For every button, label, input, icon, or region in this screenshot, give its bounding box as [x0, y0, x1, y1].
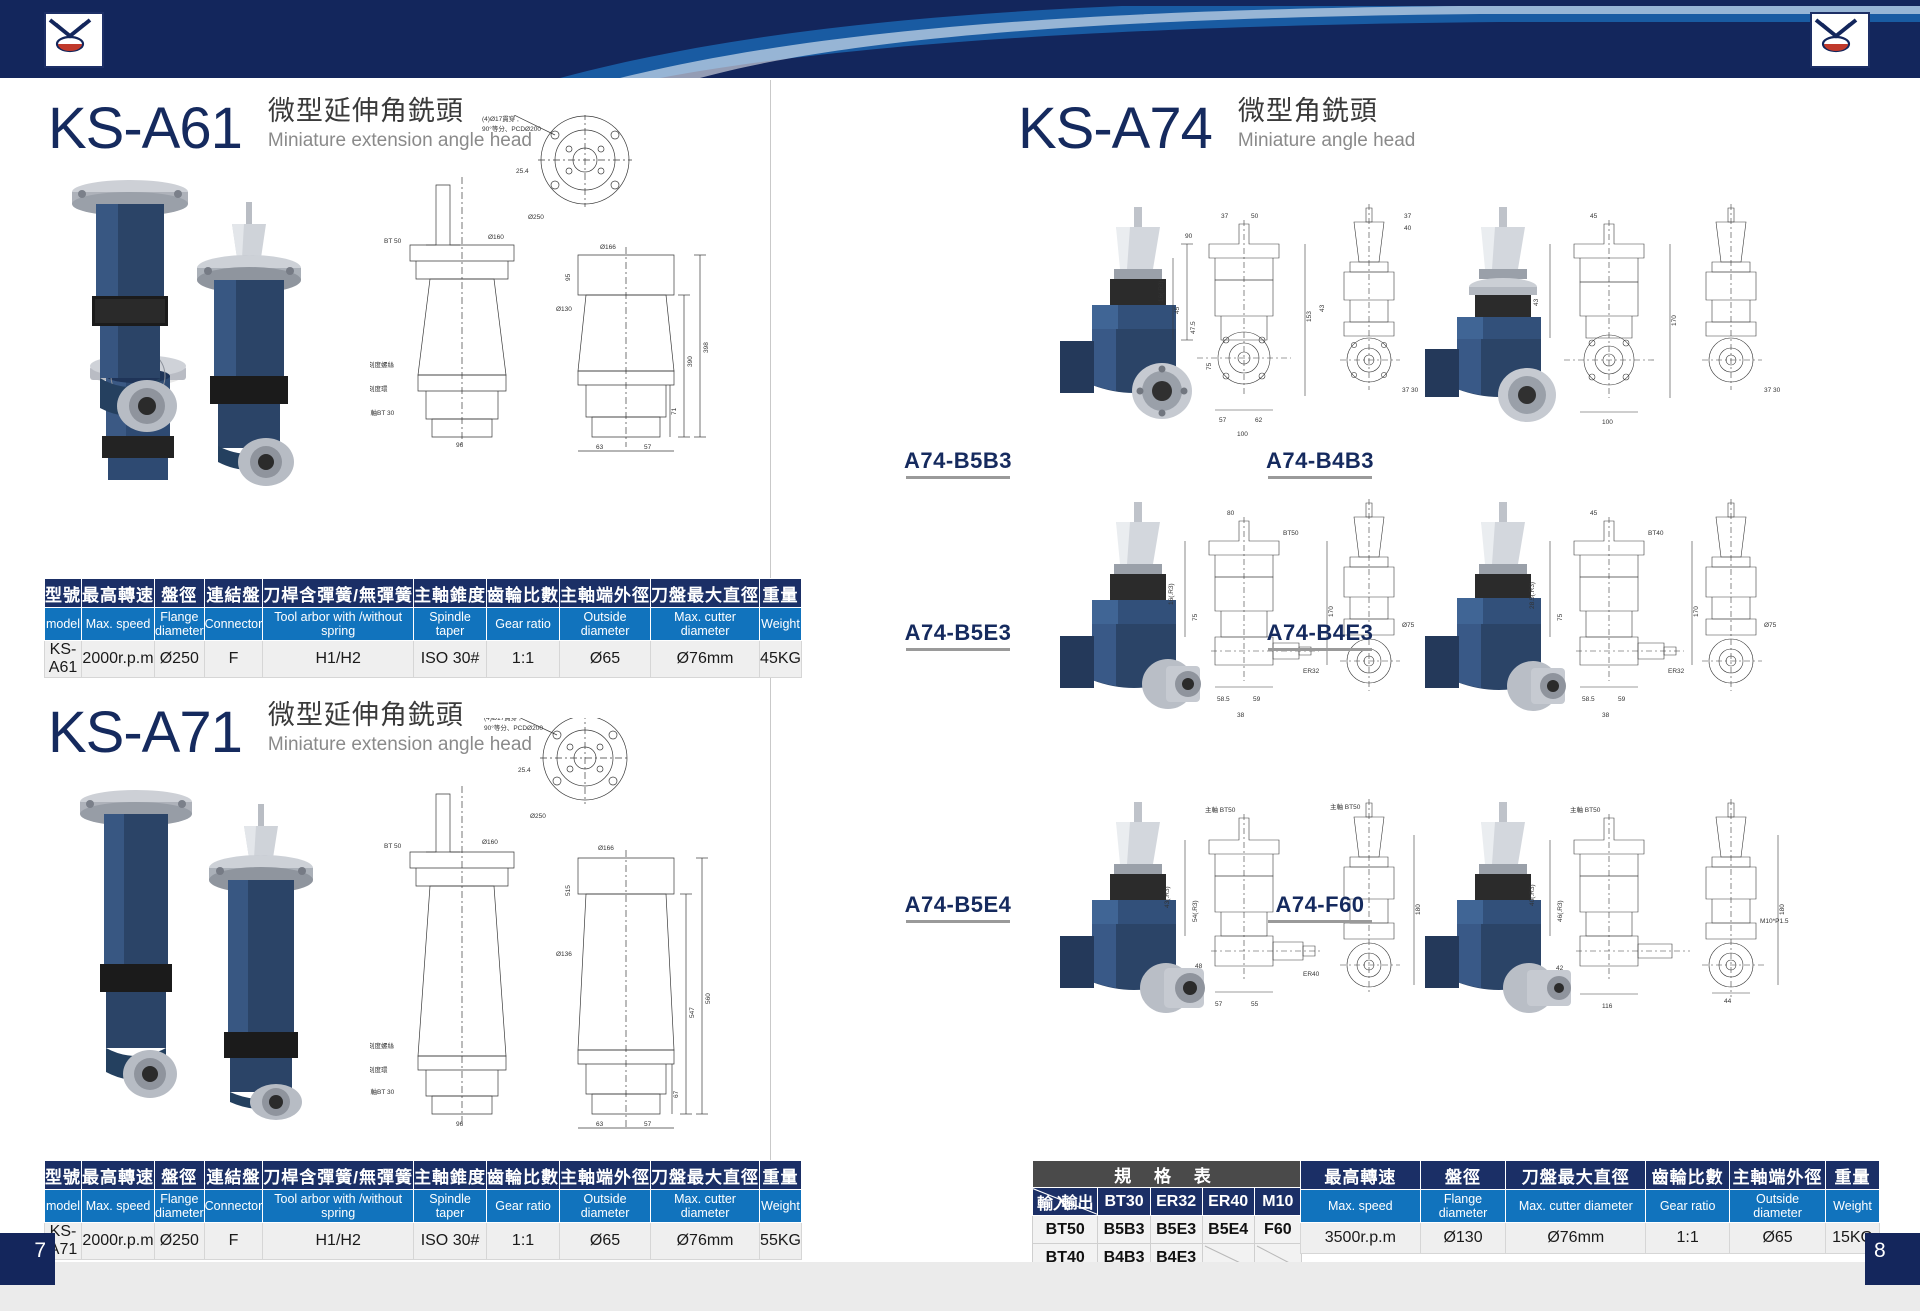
- product-code: KS-A71: [48, 704, 242, 762]
- svg-text:58.5: 58.5: [1217, 696, 1230, 703]
- svg-text:75: 75: [1192, 613, 1199, 621]
- td-taper: ISO 30#: [414, 1223, 487, 1260]
- svg-text:28.5(.R3): 28.5(.R3): [1529, 582, 1536, 609]
- underline-rule: [1268, 920, 1372, 923]
- brand-logo-left: [44, 12, 104, 68]
- product-name-en: Miniature angle head: [1238, 129, 1415, 154]
- table-row: KS-A61 2000r.p.m Ø250 F H1/H2 ISO 30# 1:…: [45, 641, 802, 678]
- th-cn-flange: 盤徑: [155, 579, 205, 608]
- th-en-outside: Outside diameter: [560, 1190, 651, 1223]
- td-cutter: Ø76mm: [1506, 1223, 1646, 1254]
- th-en-cutter: Max. cutter diameter: [651, 608, 760, 641]
- svg-text:390: 390: [687, 356, 694, 367]
- svg-text:主軸BT 30: 主軸BT 30: [370, 1087, 395, 1096]
- td-connector: F: [204, 1223, 263, 1260]
- th-en-model: model: [45, 1190, 82, 1223]
- th-en-flange: Flange diameter: [155, 608, 205, 641]
- combo-title-row: 規 格 表: [1033, 1161, 1302, 1188]
- th-en-model: model: [45, 608, 82, 641]
- svg-text:25.4: 25.4: [518, 767, 531, 774]
- footer-bar: [0, 1262, 1920, 1311]
- underline-rule: [1268, 648, 1372, 651]
- th-cn-model: 型號: [45, 579, 82, 608]
- svg-text:63: 63: [596, 444, 604, 451]
- th-cn-cutter: 刀盤最大直徑: [651, 579, 760, 608]
- svg-text:398: 398: [703, 342, 710, 353]
- combo-cell: B5E4: [1202, 1216, 1254, 1244]
- th-cn-flange: 盤徑: [155, 1161, 205, 1190]
- model-caption-a74-b4e3: A74-B4E3: [1200, 620, 1440, 651]
- th-en-taper: Spindle taper: [414, 608, 487, 641]
- page-banner: [0, 0, 1920, 78]
- svg-text:62: 62: [1255, 417, 1263, 424]
- th-en-gear: Gear ratio: [1646, 1190, 1730, 1223]
- svg-text:45: 45: [1590, 213, 1598, 220]
- model-label: A74-B4E3: [1267, 620, 1374, 645]
- model-caption-a74-f60: A74-F60: [1200, 892, 1440, 923]
- svg-text:90°等分、PCDØ200: 90°等分、PCDØ200: [484, 723, 543, 732]
- th-en-arbor: Tool arbor with /without spring: [263, 608, 414, 641]
- svg-text:43(.R3): 43(.R3): [1164, 886, 1171, 908]
- svg-text:Ø75: Ø75: [1764, 622, 1777, 629]
- underline-rule: [906, 920, 1010, 923]
- svg-text:刻度環: 刻度環: [370, 384, 388, 393]
- combination-table-a74: 規 格 表 輸出 輸入 BT30 ER32 ER40 M10 BT50 B5B3…: [1032, 1160, 1302, 1272]
- th-en-connector: Connector: [204, 1190, 263, 1223]
- svg-text:46(.R3): 46(.R3): [1557, 900, 1564, 922]
- technical-drawing-a74-f60-side: M10*P1.5 180 44: [1672, 795, 1807, 1005]
- svg-text:180: 180: [1779, 904, 1786, 915]
- spec-table-ks-a71: 型號 最高轉速 盤徑 連結盤 刀桿含彈簧/無彈簧 主軸錐度 齒輪比數 主軸端外徑…: [44, 1160, 802, 1260]
- svg-text:116: 116: [1602, 1003, 1613, 1010]
- brand-logo-right: [1810, 12, 1870, 68]
- ks-logo-icon: [46, 14, 94, 56]
- table-header-row-cn: 型號 最高轉速 盤徑 連結盤 刀桿含彈簧/無彈簧 主軸錐度 齒輪比數 主軸端外徑…: [45, 579, 802, 608]
- svg-text:Ø166: Ø166: [598, 845, 614, 852]
- table-header-row-en: model Max. speed Flange diameter Connect…: [45, 608, 802, 641]
- combo-col-bt30: BT30: [1098, 1188, 1150, 1216]
- combo-header-row: 輸出 輸入 BT30 ER32 ER40 M10: [1033, 1188, 1302, 1216]
- th-en-weight: Weight: [760, 1190, 802, 1223]
- combo-col-m10: M10: [1254, 1188, 1301, 1216]
- td-outside: Ø65: [560, 641, 651, 678]
- th-en-speed: Max. speed: [1301, 1190, 1421, 1223]
- svg-text:M10*P1.5: M10*P1.5: [1760, 918, 1789, 925]
- svg-text:(4)Ø17貫穿 ,: (4)Ø17貫穿 ,: [484, 718, 521, 722]
- underline-rule: [906, 476, 1010, 479]
- td-gear: 1:1: [487, 641, 560, 678]
- svg-text:主軸BT 30: 主軸BT 30: [370, 408, 395, 417]
- td-flange: Ø250: [155, 641, 205, 678]
- svg-text:16(.R3): 16(.R3): [1158, 280, 1165, 302]
- th-cn-gear: 齒輪比數: [1646, 1161, 1730, 1190]
- th-cn-outside: 主軸端外徑: [560, 1161, 651, 1190]
- page-number-left: 7: [0, 1233, 55, 1285]
- svg-text:59: 59: [1618, 696, 1626, 703]
- svg-text:63: 63: [596, 1121, 604, 1128]
- th-cn-taper: 主軸錐度: [414, 579, 487, 608]
- td-outside: Ø65: [560, 1223, 651, 1260]
- technical-drawing-ks-a61: (4)Ø17貫穿 , 90°等分、PCDØ200 25.4 BT 50 Ø250…: [370, 115, 730, 455]
- product-photo-ks-a71-b: [186, 800, 356, 1120]
- product-code: KS-A61: [48, 100, 242, 158]
- svg-text:38: 38: [1237, 712, 1245, 719]
- th-cn-weight: 重量: [1826, 1161, 1880, 1190]
- model-label: A74-B4B3: [1266, 448, 1374, 473]
- svg-text:50: 50: [1251, 213, 1259, 220]
- th-cn-gear: 齒輪比數: [487, 1161, 560, 1190]
- th-en-arbor: Tool arbor with /without spring: [263, 1190, 414, 1223]
- table-header-row-en: Max. speed Flange diameter Max. cutter d…: [1301, 1190, 1880, 1223]
- svg-text:(4)Ø17貫穿 ,: (4)Ø17貫穿 ,: [482, 115, 519, 123]
- th-en-flange: Flange diameter: [155, 1190, 205, 1223]
- product-code: KS-A74: [1018, 100, 1212, 158]
- combo-cell: B5B3: [1098, 1216, 1150, 1244]
- spec-table-ks-a61: 型號 最高轉速 盤徑 連結盤 刀桿含彈簧/無彈簧 主軸錐度 齒輪比數 主軸端外徑…: [44, 578, 802, 678]
- svg-text:75: 75: [1557, 613, 1564, 621]
- td-speed: 3500r.p.m: [1301, 1223, 1421, 1254]
- td-speed: 2000r.p.m: [82, 641, 155, 678]
- catalog-page-spread: KS-A61 微型延伸角銑頭 Miniature extension angle…: [0, 0, 1920, 1311]
- combo-col-er40: ER40: [1202, 1188, 1254, 1216]
- combo-col-er32: ER32: [1150, 1188, 1202, 1216]
- td-arbor: H1/H2: [263, 641, 414, 678]
- th-en-flange: Flange diameter: [1420, 1190, 1506, 1223]
- combo-row-input: BT50: [1033, 1216, 1098, 1244]
- th-en-cutter: Max. cutter diameter: [1506, 1190, 1646, 1223]
- product-name-cn: 微型角銑頭: [1238, 96, 1415, 127]
- table-header-row-cn: 型號 最高轉速 盤徑 連結盤 刀桿含彈簧/無彈簧 主軸錐度 齒輪比數 主軸端外徑…: [45, 1161, 802, 1190]
- combo-row-bt50: BT50 B5B3 B5E3 B5E4 F60: [1033, 1216, 1302, 1244]
- td-connector: F: [204, 641, 263, 678]
- svg-text:Ø250: Ø250: [528, 214, 544, 221]
- table-header-row-en: model Max. speed Flange diameter Connect…: [45, 1190, 802, 1223]
- td-model: KS-A61: [45, 641, 82, 678]
- svg-text:57: 57: [1219, 417, 1227, 424]
- svg-text:Ø250: Ø250: [530, 813, 546, 820]
- table-row: 3500r.p.m Ø130 Ø76mm 1:1 Ø65 15KG: [1301, 1223, 1880, 1254]
- svg-text:37 30: 37 30: [1764, 387, 1781, 394]
- svg-text:38: 38: [1602, 712, 1610, 719]
- th-cn-arbor: 刀桿含彈簧/無彈簧: [263, 1161, 414, 1190]
- svg-text:560: 560: [705, 993, 712, 1004]
- svg-text:42: 42: [1556, 965, 1564, 972]
- svg-text:48: 48: [1195, 963, 1203, 970]
- th-en-weight: Weight: [1826, 1190, 1880, 1223]
- svg-text:Ø136: Ø136: [556, 951, 572, 958]
- combo-title: 規 格 表: [1033, 1161, 1302, 1188]
- th-en-gear: Gear ratio: [487, 608, 560, 641]
- svg-text:100: 100: [1602, 419, 1613, 426]
- svg-text:90°等分、PCDØ200: 90°等分、PCDØ200: [482, 124, 541, 133]
- technical-drawing-a74-b4e3-side: Ø75: [1672, 495, 1797, 705]
- th-cn-taper: 主軸錐度: [414, 1161, 487, 1190]
- page-number-right: 8: [1865, 1233, 1920, 1285]
- th-cn-outside: 主軸端外徑: [1730, 1161, 1826, 1190]
- model-caption-a74-b4b3: A74-B4B3: [1200, 448, 1440, 479]
- svg-text:90: 90: [1185, 233, 1193, 240]
- th-en-connector: Connector: [204, 608, 263, 641]
- td-flange: Ø250: [155, 1223, 205, 1260]
- th-cn-cutter: 刀盤最大直徑: [651, 1161, 760, 1190]
- underline-rule: [906, 648, 1010, 651]
- td-cutter: Ø76mm: [651, 1223, 760, 1260]
- svg-text:58.5: 58.5: [1582, 696, 1595, 703]
- product-photo-ks-a61-b: [176, 196, 346, 486]
- th-cn-weight: 重量: [760, 579, 802, 608]
- td-weight: 55KG: [760, 1223, 802, 1260]
- svg-text:主軸 BT50: 主軸 BT50: [1205, 805, 1236, 814]
- svg-text:BT 50: BT 50: [384, 843, 402, 850]
- model-label: A74-B5E3: [905, 620, 1012, 645]
- td-gear: 1:1: [487, 1223, 560, 1260]
- svg-text:96: 96: [456, 1121, 464, 1128]
- th-cn-speed: 最高轉速: [82, 579, 155, 608]
- th-en-speed: Max. speed: [82, 1190, 155, 1223]
- svg-text:45: 45: [1174, 306, 1181, 314]
- svg-text:43: 43: [1533, 298, 1540, 306]
- model-label: A74-F60: [1275, 892, 1364, 917]
- svg-text:Ø160: Ø160: [488, 234, 504, 241]
- th-cn-outside: 主軸端外徑: [560, 579, 651, 608]
- svg-text:57: 57: [644, 1121, 652, 1128]
- svg-text:Ø160: Ø160: [482, 839, 498, 846]
- technical-drawing-a74-b4b3-side: 37 30: [1672, 200, 1797, 400]
- th-cn-weight: 重量: [760, 1161, 802, 1190]
- table-row: KS-A71 2000r.p.m Ø250 F H1/H2 ISO 30# 1:…: [45, 1223, 802, 1260]
- table-header-row-cn: 最高轉速 盤徑 刀盤最大直徑 齒輪比數 主軸端外徑 重量: [1301, 1161, 1880, 1190]
- td-speed: 2000r.p.m: [82, 1223, 155, 1260]
- product-header-ks-a74: KS-A74 微型角銑頭 Miniature angle head: [1018, 96, 1415, 158]
- combo-cell: F60: [1254, 1216, 1301, 1244]
- th-cn-speed: 最高轉速: [82, 1161, 155, 1190]
- svg-text:54(.R3): 54(.R3): [1192, 900, 1199, 922]
- td-weight: 45KG: [760, 641, 802, 678]
- th-cn-connector: 連結盤: [204, 1161, 263, 1190]
- svg-text:47.5: 47.5: [1190, 321, 1197, 334]
- th-cn-cutter: 刀盤最大直徑: [1506, 1161, 1646, 1190]
- td-taper: ISO 30#: [414, 641, 487, 678]
- th-en-speed: Max. speed: [82, 608, 155, 641]
- svg-text:BT 50: BT 50: [384, 238, 402, 245]
- technical-drawing-ks-a71: (4)Ø17貫穿 , 90°等分、PCDØ200 25.4 BT 50 Ø250…: [370, 718, 730, 1138]
- svg-text:44: 44: [1724, 998, 1732, 1005]
- svg-text:43: 43: [1319, 304, 1326, 312]
- model-caption-a74-b5e4: A74-B5E4: [838, 892, 1078, 923]
- svg-text:25.4: 25.4: [516, 168, 529, 175]
- combo-corner-cell: 輸出 輸入: [1033, 1188, 1098, 1216]
- svg-text:40(.R3): 40(.R3): [1529, 884, 1536, 906]
- td-outside: Ø65: [1730, 1223, 1826, 1254]
- svg-text:75: 75: [1206, 362, 1213, 370]
- svg-text:16(.R3): 16(.R3): [1168, 583, 1175, 605]
- model-caption-a74-b5e3: A74-B5E3: [838, 620, 1078, 651]
- svg-text:37: 37: [1221, 213, 1229, 220]
- svg-text:45: 45: [1590, 510, 1598, 517]
- svg-text:Ø130: Ø130: [556, 306, 572, 313]
- svg-text:547: 547: [689, 1007, 696, 1018]
- th-cn-model: 型號: [45, 1161, 82, 1190]
- svg-text:96: 96: [456, 442, 464, 449]
- svg-text:刻度環: 刻度環: [370, 1065, 388, 1074]
- th-cn-flange: 盤徑: [1420, 1161, 1506, 1190]
- svg-text:BT50: BT50: [1283, 530, 1299, 537]
- svg-text:Ø166: Ø166: [600, 244, 616, 251]
- combo-corner-input: 輸入: [1037, 1190, 1069, 1214]
- model-label: A74-B5B3: [904, 448, 1012, 473]
- svg-text:刻度螺絲: 刻度螺絲: [370, 1041, 395, 1050]
- th-en-weight: Weight: [760, 608, 802, 641]
- svg-text:59: 59: [1253, 696, 1261, 703]
- th-cn-gear: 齒輪比數: [487, 579, 560, 608]
- svg-text:57: 57: [1215, 1001, 1223, 1008]
- spec-table-ks-a74: 最高轉速 盤徑 刀盤最大直徑 齒輪比數 主軸端外徑 重量 Max. speed …: [1300, 1160, 1880, 1254]
- th-cn-connector: 連結盤: [204, 579, 263, 608]
- svg-text:55: 55: [1251, 1001, 1259, 1008]
- svg-text:71: 71: [671, 407, 678, 415]
- model-label: A74-B5E4: [905, 892, 1012, 917]
- svg-text:100: 100: [1237, 431, 1248, 438]
- model-caption-a74-b5b3: A74-B5B3: [838, 448, 1078, 479]
- th-cn-speed: 最高轉速: [1301, 1161, 1421, 1190]
- td-cutter: Ø76mm: [651, 641, 760, 678]
- svg-text:515: 515: [565, 885, 572, 896]
- svg-text:67: 67: [673, 1090, 680, 1098]
- td-flange: Ø130: [1420, 1223, 1506, 1254]
- svg-text:主軸 BT50: 主軸 BT50: [1570, 805, 1601, 814]
- th-en-cutter: Max. cutter diameter: [651, 1190, 760, 1223]
- combo-cell: B5E3: [1150, 1216, 1202, 1244]
- ks-logo-icon: [1812, 14, 1860, 56]
- td-gear: 1:1: [1646, 1223, 1730, 1254]
- svg-text:刻度螺絲: 刻度螺絲: [370, 360, 395, 369]
- svg-text:57: 57: [644, 444, 652, 451]
- th-en-outside: Outside diameter: [1730, 1190, 1826, 1223]
- svg-text:80: 80: [1227, 510, 1235, 517]
- underline-rule: [1268, 476, 1372, 479]
- th-en-taper: Spindle taper: [414, 1190, 487, 1223]
- svg-text:BT40: BT40: [1648, 530, 1664, 537]
- svg-text:95: 95: [565, 273, 572, 281]
- th-en-gear: Gear ratio: [487, 1190, 560, 1223]
- th-cn-arbor: 刀桿含彈簧/無彈簧: [263, 579, 414, 608]
- th-en-outside: Outside diameter: [560, 608, 651, 641]
- svg-text:主軸 BT50: 主軸 BT50: [1330, 802, 1361, 811]
- td-arbor: H1/H2: [263, 1223, 414, 1260]
